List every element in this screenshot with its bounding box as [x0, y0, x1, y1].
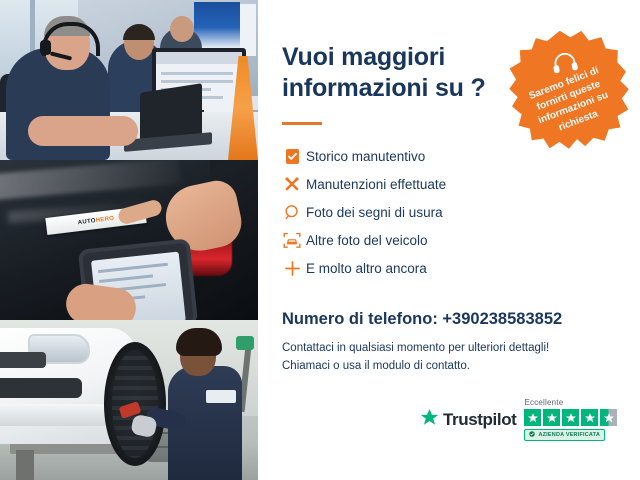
mechanic-hair — [176, 328, 222, 356]
monitor-row — [161, 72, 233, 75]
list-item: Foto dei segni di usura — [278, 198, 578, 226]
rating-stars — [524, 409, 617, 426]
phone-number-label[interactable]: Numero di telefono: +390238583852 — [282, 310, 562, 329]
magnifier-icon — [278, 201, 306, 223]
list-item-label: Altre foto del veicolo — [306, 233, 428, 248]
tablet-row — [99, 274, 153, 283]
list-item-label: Manutenzioni effettuate — [306, 177, 446, 192]
checklist-icon — [278, 145, 306, 167]
rating-star — [524, 409, 541, 426]
ruler-brand-part1: AUTO — [77, 218, 96, 226]
contact-line-2: Chiamaci o usa il modulo di contatto. — [282, 358, 602, 376]
car-inspection-photo: AUTOHERO — [0, 160, 258, 320]
verified-label: AZIENDA VERIFICATA — [538, 432, 600, 438]
list-item-label: Foto dei segni di usura — [306, 205, 443, 220]
info-request-banner: AUTOHERO — [0, 0, 640, 480]
call-center-photo — [0, 0, 258, 160]
contact-line-1: Contattaci in qualsiasi momento per ulte… — [282, 340, 602, 358]
agent-arm — [28, 116, 138, 146]
verified-badge-icon — [529, 431, 535, 439]
tools-icon — [278, 173, 306, 195]
feature-list: Storico manutentivo Manutenzioni effettu… — [278, 142, 578, 282]
car-upper-grille — [0, 352, 46, 368]
rating-star-partial — [600, 409, 617, 426]
title-divider — [282, 122, 322, 125]
trustpilot-logo: Trustpilot — [420, 408, 516, 432]
list-item: Altre foto del veicolo — [278, 226, 578, 254]
plus-icon — [278, 257, 306, 279]
trustpilot-widget[interactable]: Trustpilot Eccellente — [420, 398, 617, 441]
ruler-brand-part2: HERO — [95, 215, 114, 223]
trustpilot-wordmark: Trustpilot — [443, 410, 516, 430]
background-head-c — [170, 16, 194, 42]
mechanic-uniform-logo — [206, 390, 236, 403]
contact-description: Contattaci in qualsiasi momento per ulte… — [282, 340, 602, 376]
car-bumper — [0, 404, 112, 426]
list-item-label: E molto altro ancora — [306, 261, 427, 276]
list-item: Manutenzioni effettuate — [278, 170, 578, 198]
callout-badge: Saremo felici di fornirti queste informa… — [501, 21, 636, 156]
list-item-label: Storico manutentivo — [306, 149, 425, 164]
workshop-photo — [0, 320, 258, 480]
broom-head — [236, 336, 254, 350]
rating-star — [581, 409, 598, 426]
monitor-row — [161, 80, 233, 83]
car-lift-post — [16, 450, 34, 480]
rating-star — [562, 409, 579, 426]
rating-star — [543, 409, 560, 426]
star-icon — [420, 408, 439, 432]
content-panel: Vuoi maggiori informazioni su ? Storico … — [258, 0, 640, 480]
car-lower-grille — [0, 378, 82, 398]
monitor-header-bar — [156, 52, 242, 64]
tablet-row — [98, 263, 168, 273]
trustpilot-rating: Eccellente — [524, 398, 617, 441]
page-title: Vuoi maggiori informazioni su ? — [282, 42, 512, 103]
status-badge: AZIENDA VERIFICATA — [524, 429, 605, 441]
list-item: E molto altro ancora — [278, 254, 578, 282]
background-hair-b — [123, 24, 155, 40]
rating-label: Eccellente — [524, 398, 563, 407]
photo-strip: AUTOHERO — [0, 0, 258, 480]
car-scan-icon — [278, 229, 306, 251]
